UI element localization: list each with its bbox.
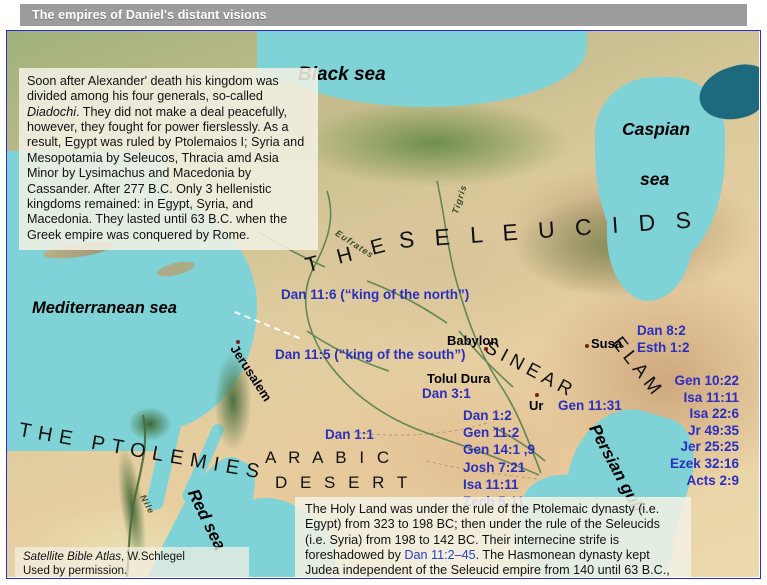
city-dot-ur [535, 393, 539, 397]
ref-center-4[interactable]: Isa 11:11 [463, 476, 535, 493]
ref-list-elam: Gen 10:22 Isa 11:11 Isa 22:6 Jr 49:35 Je… [623, 373, 739, 489]
ref-center-3[interactable]: Josh 7:21 [463, 459, 535, 476]
note-holy-land-ref[interactable]: Dan 11:2–45 [404, 548, 475, 562]
label-region-desert: D E S E R T [275, 473, 411, 493]
ref-elam-4[interactable]: Jer 25:25 [623, 439, 739, 456]
map-frame: Black sea Caspian sea Mediterranean sea … [6, 30, 761, 579]
label-city-susa: Susa [591, 336, 622, 351]
ref-elam-6[interactable]: Acts 2:9 [623, 473, 739, 490]
ref-elam-top-1[interactable]: Esth 1:2 [637, 340, 690, 357]
note-italic-diadochi: Diadochi [27, 105, 76, 119]
label-caspian-sea-line2: sea [640, 169, 669, 190]
ref-elam-1[interactable]: Isa 11:11 [623, 390, 739, 407]
ref-king-of-the-north[interactable]: Dan 11:6 (“king of the north”) [281, 287, 469, 302]
ref-tolul-dura[interactable]: Dan 3:1 [422, 386, 471, 401]
label-city-babylon: Babylon [447, 333, 498, 348]
ref-elam-top-0[interactable]: Dan 8:2 [637, 323, 690, 340]
note-box-diadochi-text: Soon after Alexander' death his kingdom … [27, 74, 304, 242]
label-caspian-sea-line1: Caspian [622, 119, 690, 140]
map-canvas[interactable]: Black sea Caspian sea Mediterranean sea … [7, 31, 759, 577]
ref-ur[interactable]: Gen 11:31 [558, 398, 622, 413]
ref-center-0[interactable]: Dan 1:2 [463, 407, 535, 424]
credit-author: , W.Schlegel [121, 551, 185, 563]
page-title: The empires of Daniel's distant visions [32, 8, 267, 22]
ref-elam-3[interactable]: Jr 49:35 [623, 423, 739, 440]
label-city-tolul-dura: Tolul Dura [427, 371, 490, 386]
ref-arabia-dan-1-1[interactable]: Dan 1:1 [325, 427, 374, 442]
ref-elam-5[interactable]: Ezek 32:16 [623, 456, 739, 473]
ref-elam-0[interactable]: Gen 10:22 [623, 373, 739, 390]
ref-list-elam-top: Dan 8:2 Esth 1:2 [637, 323, 690, 356]
ref-center-1[interactable]: Gen 11:2 [463, 424, 535, 441]
ref-king-of-the-south[interactable]: Dan 11:5 (“king of the south”) [275, 347, 466, 362]
credit-source-title: Satellite Bible Atlas [23, 551, 121, 563]
window-titlebar: The empires of Daniel's distant visions [20, 4, 747, 26]
ref-elam-2[interactable]: Isa 22:6 [623, 406, 739, 423]
ref-list-center: Dan 1:2 Gen 11:2 Gen 14:1 ,9 Josh 7:21 I… [463, 407, 535, 510]
note-box-holy-land: The Holy Land was under the rule of the … [295, 497, 691, 577]
credit-box: Satellite Bible Atlas, W.Schlegel Used b… [15, 547, 249, 577]
label-mediterranean-sea: Mediterranean sea [32, 299, 177, 318]
credit-permission: Used by permission. [23, 564, 243, 577]
screenshot-root: The empires of Daniel's distant visions [0, 0, 767, 585]
city-dot-susa [585, 344, 589, 348]
ref-center-2[interactable]: Gen 14:1 ,9 [463, 441, 535, 458]
label-region-arabic: A R A B I C [265, 448, 393, 468]
note-box-diadochi: Soon after Alexander' death his kingdom … [19, 68, 318, 250]
